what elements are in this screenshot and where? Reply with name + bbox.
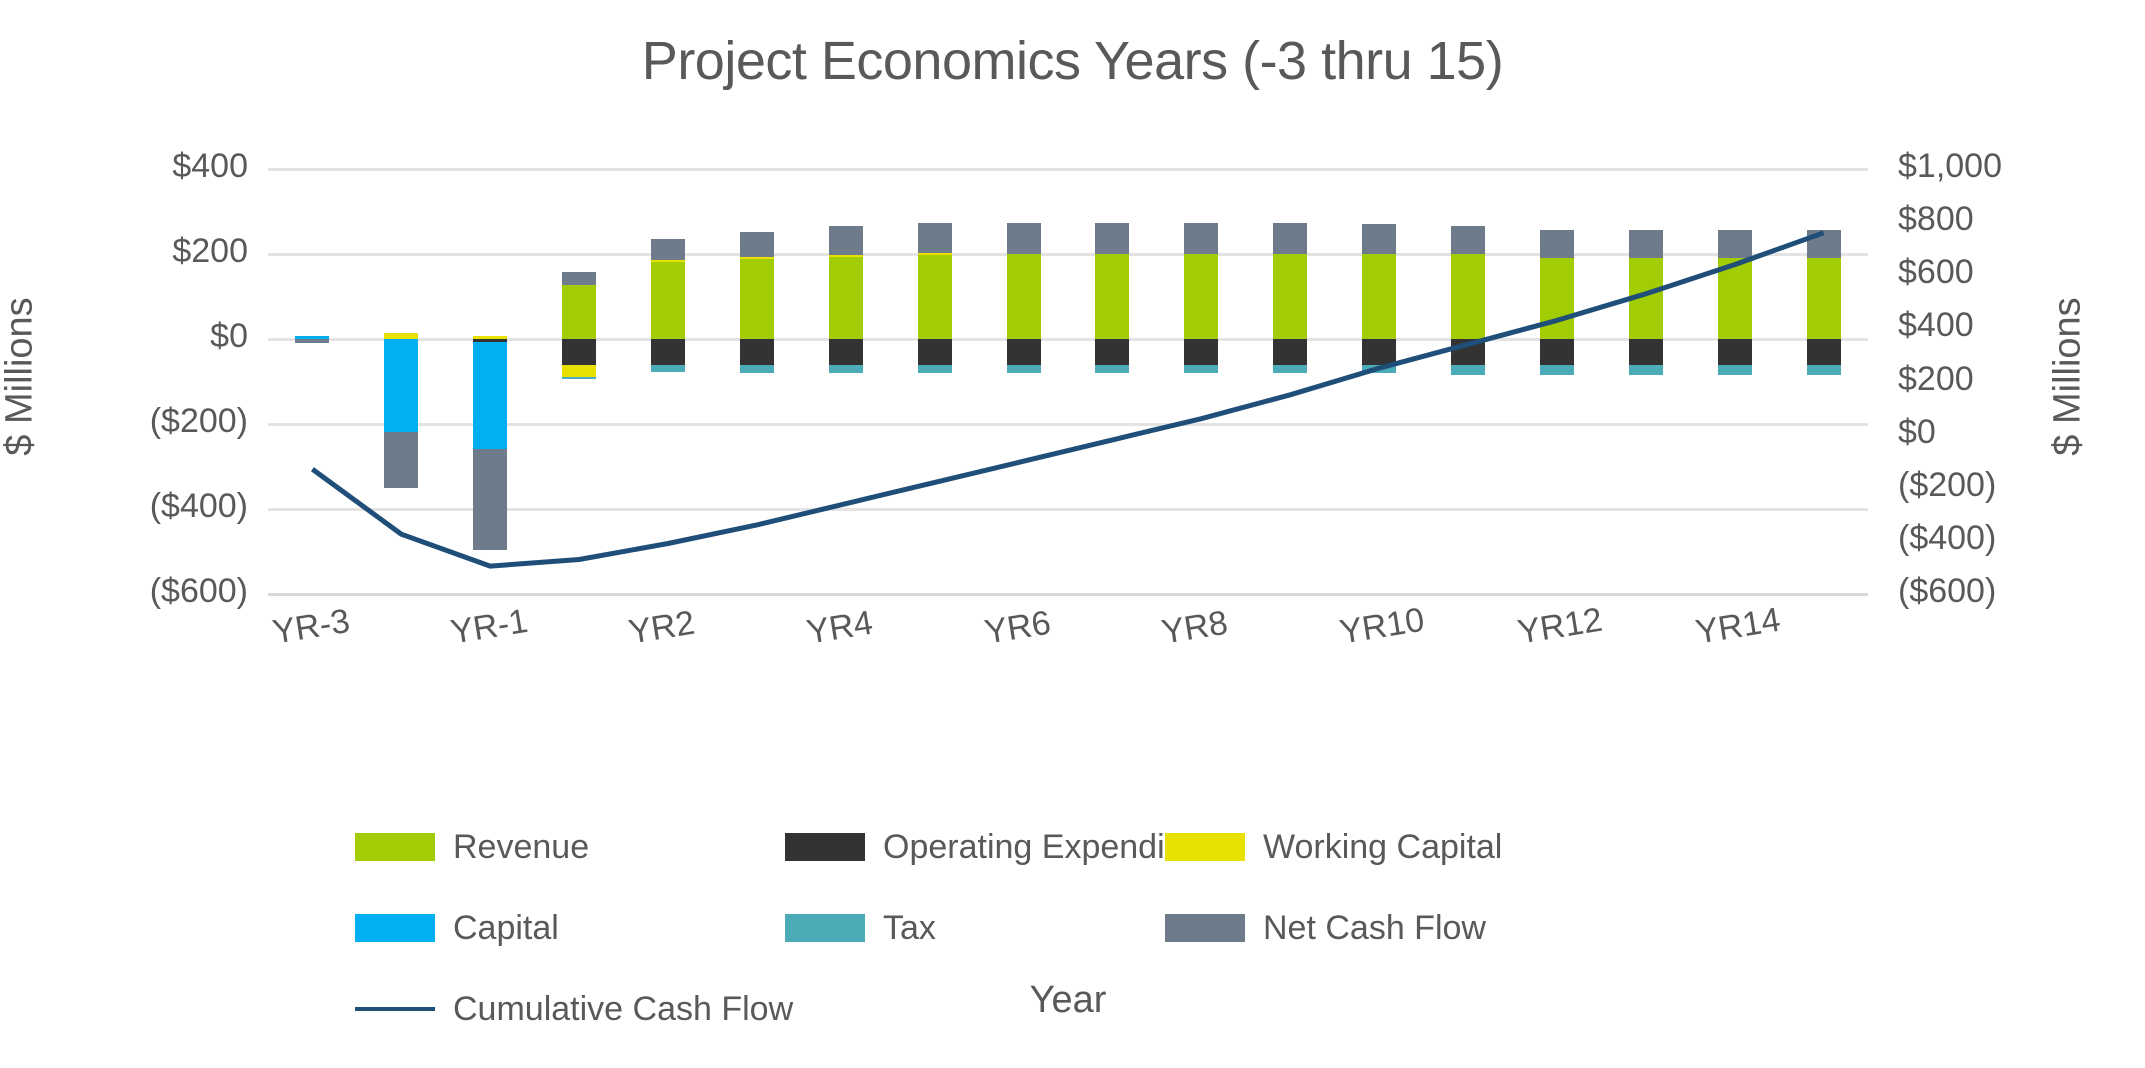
y-tick-label-left: ($200) [48,402,248,441]
legend-color-swatch-icon [1165,914,1245,942]
legend-color-swatch-icon [1165,833,1245,861]
y-axis-title-right: $ Millions [2047,277,2090,477]
y-tick-label-right: $0 [1898,413,1936,452]
x-tick-label: YR-1 [448,602,531,653]
legend-item-tax[interactable]: Tax [785,909,936,948]
legend-item-revenue[interactable]: Revenue [355,828,589,867]
chart-container: Project Economics Years (-3 thru 15) $ M… [0,0,2145,1061]
y-tick-label-left: ($600) [48,572,248,611]
cumulative-cash-flow-line [268,169,1868,594]
x-tick-label: YR10 [1337,601,1427,653]
y-tick-label-right: $800 [1898,200,1974,239]
y-tick-label-left: $0 [48,317,248,356]
legend-color-swatch-icon [355,833,435,861]
x-tick-label: YR6 [982,604,1053,653]
chart-legend: RevenueOperating ExpenditureWorking Capi… [355,825,1755,1068]
plot-area: YR-3YR-1YR2YR4YR6YR8YR10YR12YR14 Year [268,169,1868,594]
y-tick-label-right: $200 [1898,360,1974,399]
legend-line-swatch-icon [355,1007,435,1011]
legend-item-cumulative-cash-flow[interactable]: Cumulative Cash Flow [355,990,793,1029]
y-tick-label-left: ($400) [48,487,248,526]
legend-row: CapitalTaxNet Cash Flow [355,906,1755,950]
y-tick-label-left: $400 [48,147,248,186]
x-tick-label: YR14 [1693,601,1783,653]
legend-label: Revenue [453,828,589,867]
x-tick-label: YR8 [1159,604,1230,653]
legend-row: Cumulative Cash Flow [355,987,1755,1031]
y-tick-label-right: ($200) [1898,466,1996,505]
x-tick-label: YR4 [804,604,875,653]
y-tick-label-right: $1,000 [1898,147,2002,186]
legend-item-capital[interactable]: Capital [355,909,559,948]
legend-color-swatch-icon [785,833,865,861]
chart-title: Project Economics Years (-3 thru 15) [0,30,2145,92]
cumulative-cash-flow-polyline [312,233,1823,566]
legend-label: Net Cash Flow [1263,909,1486,948]
x-tick-label: YR12 [1515,601,1605,653]
legend-item-working-capital[interactable]: Working Capital [1165,828,1502,867]
x-tick-label: YR2 [626,604,697,653]
legend-label: Cumulative Cash Flow [453,990,793,1029]
legend-row: RevenueOperating ExpenditureWorking Capi… [355,825,1755,869]
legend-color-swatch-icon [785,914,865,942]
x-tick-label: YR-3 [270,602,353,653]
y-tick-label-left: $200 [48,232,248,271]
y-tick-label-right: ($600) [1898,572,1996,611]
legend-label: Capital [453,909,559,948]
y-tick-label-right: ($400) [1898,519,1996,558]
legend-item-operating-expenditure[interactable]: Operating Expenditure [785,828,1223,867]
legend-item-net-cash-flow[interactable]: Net Cash Flow [1165,909,1486,948]
legend-color-swatch-icon [355,914,435,942]
y-tick-label-right: $400 [1898,306,1974,345]
legend-label: Tax [883,909,936,948]
legend-label: Working Capital [1263,828,1502,867]
y-axis-title-left: $ Millions [0,277,42,477]
y-tick-label-right: $600 [1898,253,1974,292]
